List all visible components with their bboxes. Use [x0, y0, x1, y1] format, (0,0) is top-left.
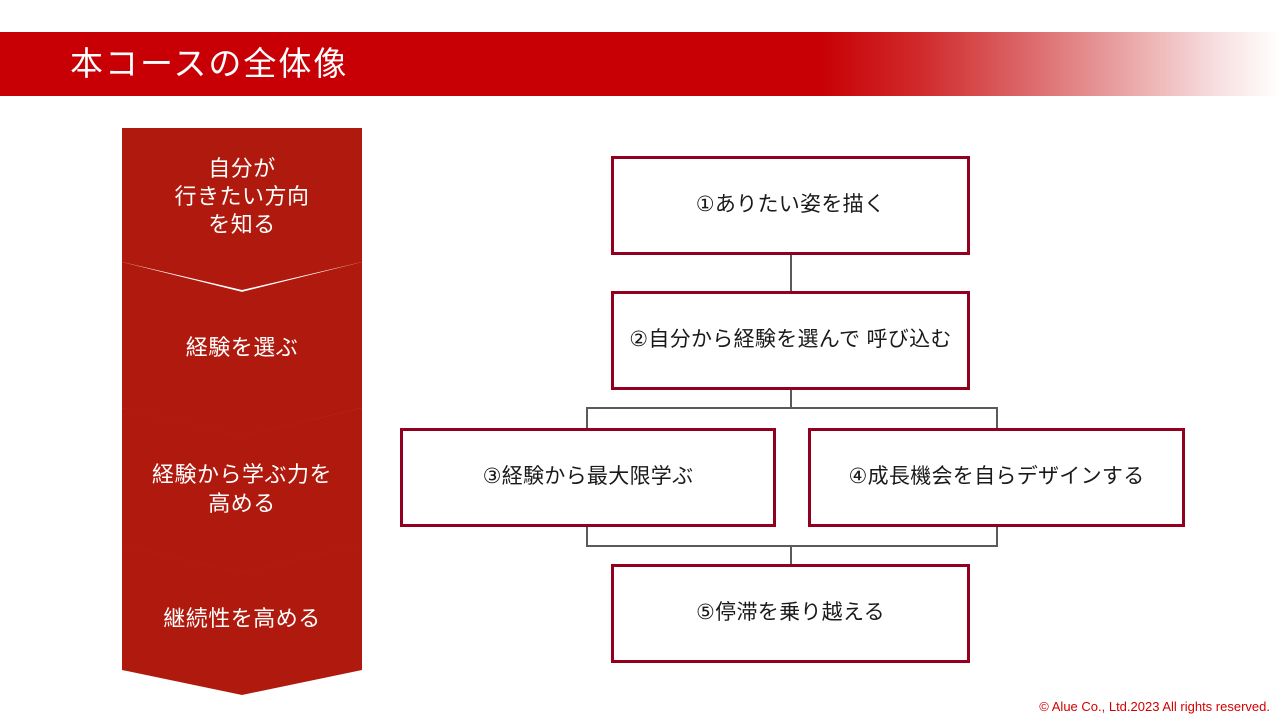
connector-split-to-box4: [996, 407, 998, 429]
flow-box-1-label: ①ありたい姿を描く: [696, 191, 886, 220]
flow-box-5-line-1: ⑤停滞を乗り越える: [696, 601, 885, 624]
connector-split-to-box3: [586, 407, 588, 429]
flow-box-4[interactable]: ④成長機会を自らデザインする: [808, 428, 1185, 527]
flow-box-5[interactable]: ⑤停滞を乗り越える: [611, 564, 970, 663]
connector-box2-to-split: [790, 390, 792, 408]
connector-merge-to-box5: [790, 545, 792, 565]
connector-split-bus: [586, 407, 998, 409]
connector-box1-to-box2: [790, 255, 792, 292]
flow-diagram: ①ありたい姿を描く ②自分から経験を選んで 呼び込む ③経験から最大限学ぶ ④成…: [0, 0, 1280, 720]
flow-box-4-label: ④成長機会を自らデザインする: [848, 463, 1144, 492]
flow-box-5-label: ⑤停滞を乗り越える: [696, 599, 885, 628]
flow-box-2-label: ②自分から経験を選んで 呼び込む: [629, 326, 951, 355]
connector-box3-to-merge: [586, 527, 588, 546]
flow-box-4-line-1: ④成長機会を自らデザインする: [848, 465, 1144, 488]
flow-box-1-line-1: ①ありたい姿を描く: [696, 193, 886, 216]
flow-box-2[interactable]: ②自分から経験を選んで 呼び込む: [611, 291, 970, 390]
footer-copyright: © Alue Co., Ltd.2023 All rights reserved…: [1039, 699, 1270, 714]
connector-merge-bus: [586, 545, 998, 547]
flow-box-3[interactable]: ③経験から最大限学ぶ: [400, 428, 776, 527]
flow-box-3-label: ③経験から最大限学ぶ: [483, 463, 694, 492]
slide-canvas: { "slide": { "title": "本コースの全体像", "color…: [0, 0, 1280, 720]
flow-box-1[interactable]: ①ありたい姿を描く: [611, 156, 970, 255]
flow-box-2-line-2: 呼び込む: [867, 328, 952, 351]
flow-box-3-line-1: ③経験から最大限学ぶ: [483, 465, 694, 488]
connector-box4-to-merge: [996, 527, 998, 546]
flow-box-2-line-1: ②自分から経験を選んで: [629, 328, 860, 351]
